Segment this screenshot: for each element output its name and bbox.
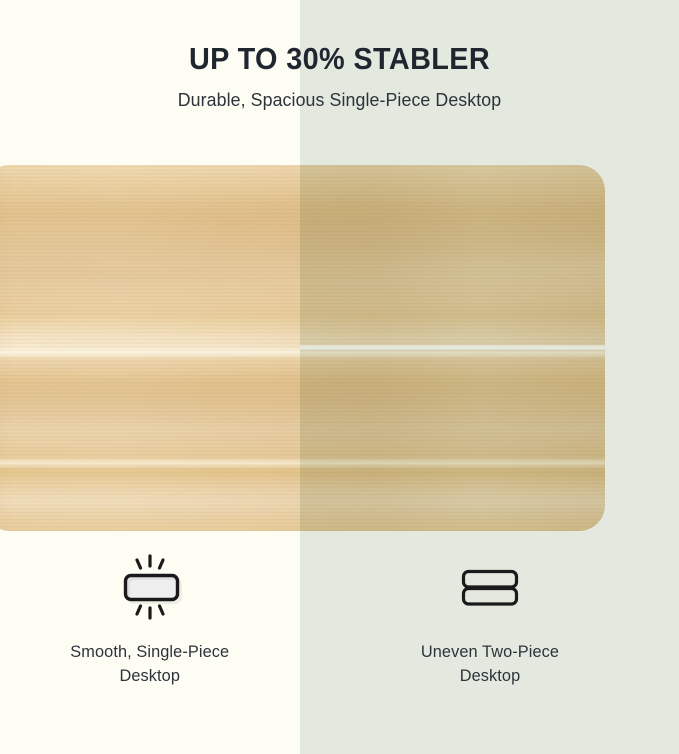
two-piece-icon-container (446, 548, 534, 626)
product-comparison-poster: UP TO 30% STABLER Durable, Spacious Sing… (0, 0, 679, 754)
page-title: UP TO 30% STABLER (24, 0, 655, 78)
caption-line-1: Uneven Two-Piece (420, 642, 558, 661)
comparison-overlay-tint (300, 165, 605, 531)
caption-line-1: Smooth, Single-Piece (71, 642, 230, 661)
caption-line-2: Desktop (459, 666, 520, 685)
single-piece-desktop-shine-icon (106, 551, 194, 623)
single-piece-icon-container (106, 548, 194, 626)
caption-line-2: Desktop (120, 666, 181, 685)
header: UP TO 30% STABLER Durable, Spacious Sing… (0, 0, 679, 111)
two-piece-caption: Uneven Two-Piece Desktop (420, 626, 558, 688)
desktop-product-image (0, 165, 605, 531)
page-subtitle: Durable, Spacious Single-Piece Desktop (14, 78, 666, 111)
single-piece-caption: Smooth, Single-Piece Desktop (71, 626, 230, 688)
comparison-columns: Smooth, Single-Piece Desktop Uneven Two-… (0, 548, 679, 718)
comparison-column-two-piece: Uneven Two-Piece Desktop (300, 548, 679, 718)
comparison-column-single-piece: Smooth, Single-Piece Desktop (0, 548, 300, 718)
two-piece-desktop-stacked-icon (446, 551, 534, 623)
